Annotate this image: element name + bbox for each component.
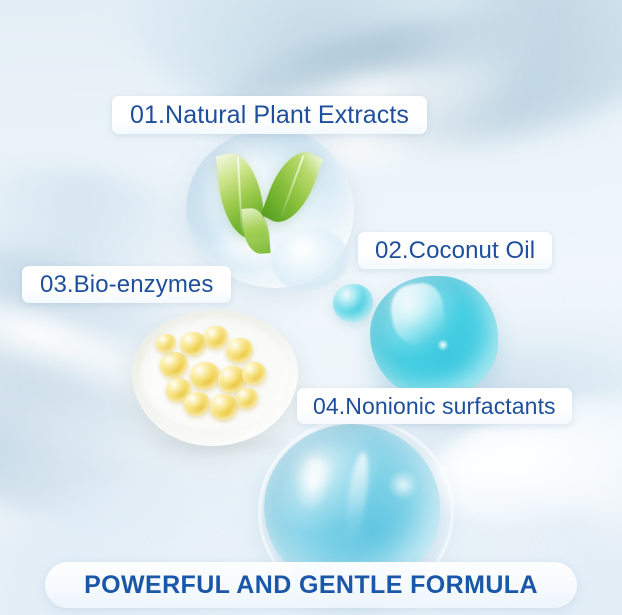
headline-banner: POWERFUL AND GENTLE FORMULA	[45, 562, 577, 608]
oil-bead	[226, 338, 253, 363]
oil-bead	[204, 326, 228, 349]
oil-bead	[180, 332, 206, 356]
ingredient-label-03-text: 03.Bio-enzymes	[40, 273, 213, 297]
oil-bead	[210, 394, 238, 420]
ingredient-label-02-text: 02.Coconut Oil	[375, 239, 535, 263]
ingredient-label-03: 03.Bio-enzymes	[22, 266, 231, 303]
oil-bead	[236, 388, 258, 409]
ingredient-label-04: 04.Nonionic surfactants	[297, 388, 572, 424]
cyan-droplet	[333, 284, 373, 322]
ingredient-label-01-text: 01.Natural Plant Extracts	[130, 103, 409, 128]
oil-bead	[190, 362, 220, 390]
ingredient-poster: 01.Natural Plant Extracts 02.Coconut Oil…	[0, 0, 622, 615]
headline-text: POWERFUL AND GENTLE FORMULA	[84, 571, 538, 600]
golden-oil-beads-cluster	[152, 322, 278, 426]
ingredient-label-04-text: 04.Nonionic surfactants	[313, 395, 556, 418]
ingredient-label-01: 01.Natural Plant Extracts	[112, 96, 427, 134]
ingredient-label-02: 02.Coconut Oil	[358, 232, 552, 269]
oil-bead	[184, 392, 210, 416]
oil-bead	[242, 362, 266, 385]
oil-bead	[160, 352, 188, 378]
blue-sphere-highlight-right	[388, 470, 418, 500]
oil-bead	[156, 334, 176, 353]
